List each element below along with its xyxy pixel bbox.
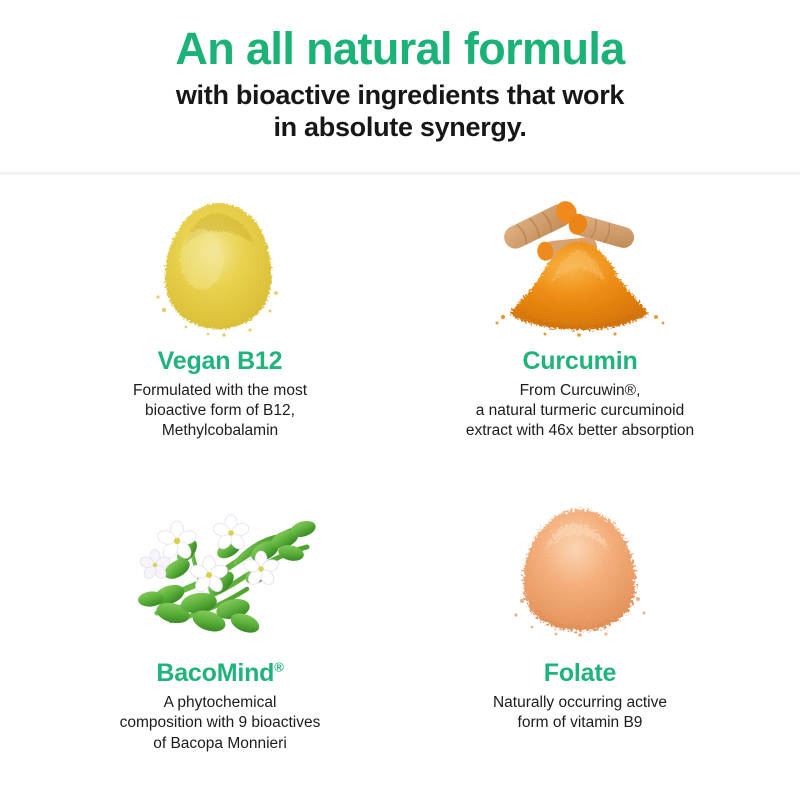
yellow-b12-powder-mound-icon <box>110 189 330 339</box>
desc-line: bioactive form of B12, <box>133 401 307 421</box>
ingredient-description-bacomind: A phytochemical composition with 9 bioac… <box>120 693 321 753</box>
page-title: An all natural formula <box>0 26 800 73</box>
ingredient-title-bacomind: BacoMind® <box>156 659 283 688</box>
desc-line: A phytochemical <box>120 693 321 713</box>
ingredient-description-vegan-b12: Formulated with the most bioactive form … <box>133 381 307 441</box>
page-subtitle-line-2: in absolute synergy. <box>0 111 800 143</box>
page-subtitle-line-1: with bioactive ingredients that work <box>0 79 800 111</box>
peach-folate-powder-mound-icon <box>470 489 690 637</box>
page-subtitle: with bioactive ingredients that work in … <box>0 79 800 144</box>
ingredient-card-vegan-b12: Vegan B12 Formulated with the most bioac… <box>40 189 400 490</box>
desc-line: From Curcuwin®, <box>466 381 694 401</box>
ingredient-description-folate: Naturally occurring active form of vitam… <box>493 693 667 733</box>
desc-line: Methylcobalamin <box>133 421 307 441</box>
ingredient-title-curcumin: Curcumin <box>522 347 637 376</box>
ingredient-title-bacomind-text: BacoMind <box>156 659 274 687</box>
ingredient-card-bacomind: BacoMind® A phytochemical composition wi… <box>40 489 400 790</box>
desc-line: of Bacopa Monnieri <box>120 734 321 754</box>
turmeric-root-and-orange-powder-mound-icon <box>470 189 690 339</box>
desc-line: extract with 46x better absorption <box>466 421 694 441</box>
ingredient-grid: Vegan B12 Formulated with the most bioac… <box>0 175 800 800</box>
ingredient-card-curcumin: Curcumin From Curcuwin®, a natural turme… <box>400 189 760 490</box>
bacopa-monnieri-plant-with-white-flowers-icon <box>110 489 330 637</box>
ingredient-title-folate: Folate <box>544 659 616 688</box>
desc-line: a natural turmeric curcuminoid <box>466 401 694 421</box>
desc-line: Naturally occurring active <box>493 693 667 713</box>
ingredient-card-folate: Folate Naturally occurring active form o… <box>400 489 760 790</box>
desc-line: composition with 9 bioactives <box>120 713 321 733</box>
header-block: An all natural formula with bioactive in… <box>0 0 800 158</box>
infographic-page: An all natural formula with bioactive in… <box>0 0 800 800</box>
desc-line: Formulated with the most <box>133 381 307 401</box>
ingredient-title-vegan-b12: Vegan B12 <box>158 347 283 376</box>
registered-trademark-icon: ® <box>274 660 283 675</box>
ingredient-description-curcumin: From Curcuwin®, a natural turmeric curcu… <box>466 381 694 441</box>
desc-line: form of vitamin B9 <box>493 713 667 733</box>
